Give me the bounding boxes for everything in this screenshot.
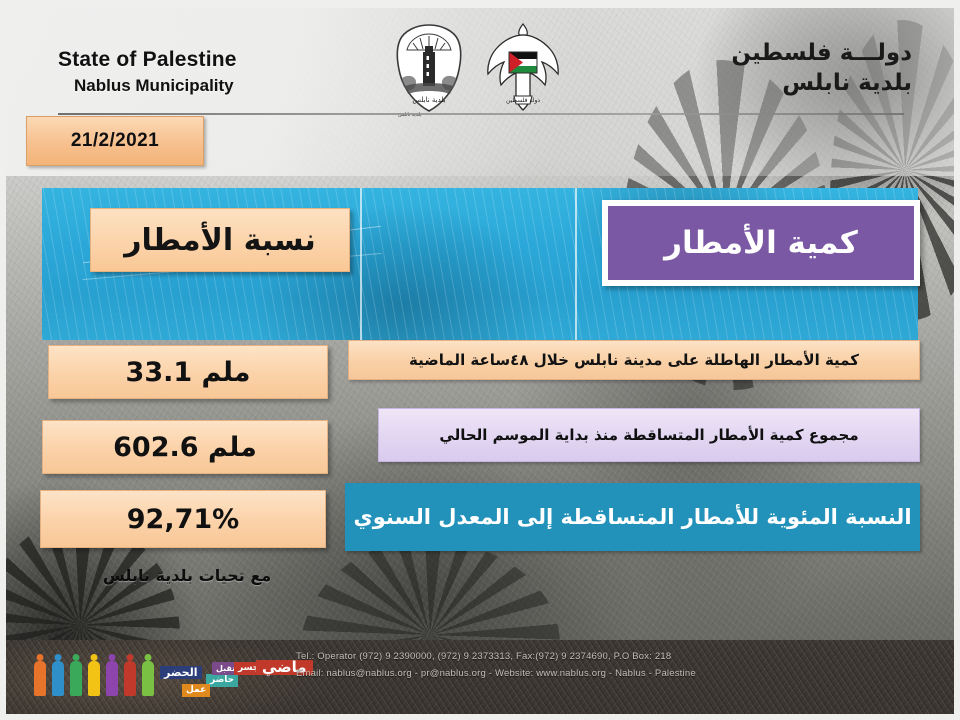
frame-edge-top <box>0 0 960 8</box>
footer-contact-info: Tel.: Operator (972) 9 2390000, (972) 9 … <box>296 648 856 682</box>
title-rain-amount: كمية الأمطار <box>602 200 920 286</box>
header-english-line2: Nablus Municipality <box>74 76 237 96</box>
footer-contact-line1: Tel.: Operator (972) 9 2390000, (972) 9 … <box>296 648 856 665</box>
column-divider <box>360 188 362 340</box>
regards-text: مع تحيات بلدية نابلس <box>62 566 312 585</box>
header-english-line1: State of Palestine <box>58 48 237 72</box>
footer-bar: الحضر حاضر مستقبل الجسر عمل ماضي Tel.: O… <box>6 640 954 714</box>
header-arabic-title: دولـــة فلسطين بلدية نابلس <box>731 40 912 97</box>
svg-text:بلدية نابلس: بلدية نابلس <box>412 96 445 104</box>
column-divider <box>575 188 577 340</box>
logo-word-orange: عمل <box>182 684 210 697</box>
row-value-annual-percentage: 92,71% <box>40 490 326 548</box>
svg-text:دولة فلسطين: دولة فلسطين <box>506 97 540 104</box>
row-label-48h: كمية الأمطار الهاطلة على مدينة نابلس خلا… <box>348 340 920 380</box>
people-logo-icon <box>32 654 155 696</box>
row-label-season-total: مجموع كمية الأمطار المتساقطة منذ بداية ا… <box>378 408 920 462</box>
date-badge-label: 21/2/2021 <box>71 130 159 152</box>
header-divider-rule <box>58 113 904 115</box>
frame-edge-bottom <box>0 714 960 720</box>
row-value-season-total: ملم 602.6 <box>42 420 328 474</box>
nablus-municipality-crest-icon: بلدية نابلس <box>392 22 466 114</box>
header-arabic-line2: بلدية نابلس <box>731 70 912 98</box>
frame-edge-right <box>954 0 960 720</box>
header-arabic-line1: دولـــة فلسطين <box>731 40 912 68</box>
header-english-title: State of Palestine Nablus Municipality <box>58 48 237 96</box>
date-badge: 21/2/2021 <box>26 116 204 166</box>
row-label-annual-percentage: النسبة المئوية للأمطار المتساقطة إلى الم… <box>345 483 920 551</box>
logo-word-teal: حاضر <box>206 674 238 687</box>
palestine-eagle-emblem-icon: دولة فلسطين <box>484 22 562 118</box>
logo-word-blue: الحضر <box>160 666 202 679</box>
footer-contact-line2: Email: nablus@nablus.org - pr@nablus.org… <box>296 665 856 682</box>
poster-canvas: State of Palestine Nablus Municipality د… <box>0 0 960 720</box>
title-rain-percentage: نسبة الأمطار <box>90 208 350 272</box>
row-value-48h: ملم 33.1 <box>48 345 328 399</box>
